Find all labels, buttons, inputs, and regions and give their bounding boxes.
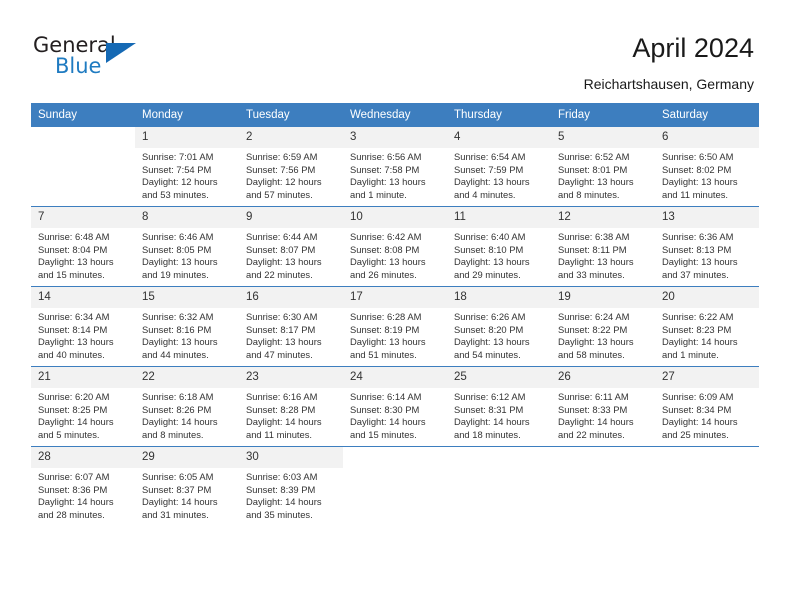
day-number: 7 (31, 207, 135, 228)
day-number: 30 (239, 447, 343, 468)
daylight-text-line1: Daylight: 12 hours (142, 176, 233, 189)
sunset-text: Sunset: 8:01 PM (558, 164, 649, 177)
daylight-text-line2: and 15 minutes. (38, 269, 129, 282)
weekday-header-wednesday: Wednesday (343, 103, 447, 127)
day-cell[interactable]: 29 Sunrise: 6:05 AM Sunset: 8:37 PM Dayl… (135, 447, 239, 527)
day-details: Sunrise: 6:52 AM Sunset: 8:01 PM Dayligh… (551, 148, 655, 201)
day-details: Sunrise: 6:05 AM Sunset: 8:37 PM Dayligh… (135, 468, 239, 521)
day-number (447, 447, 551, 468)
day-details: Sunrise: 7:01 AM Sunset: 7:54 PM Dayligh… (135, 148, 239, 201)
day-details: Sunrise: 6:09 AM Sunset: 8:34 PM Dayligh… (655, 388, 759, 441)
day-number: 12 (551, 207, 655, 228)
calendar-page: General Blue April 2024 Reichartshausen,… (0, 0, 792, 612)
day-cell[interactable]: 18 Sunrise: 6:26 AM Sunset: 8:20 PM Dayl… (447, 287, 551, 367)
daylight-text-line2: and 11 minutes. (246, 429, 337, 442)
day-cell[interactable]: 9 Sunrise: 6:44 AM Sunset: 8:07 PM Dayli… (239, 207, 343, 287)
sunrise-text: Sunrise: 6:16 AM (246, 391, 337, 404)
day-number: 1 (135, 127, 239, 148)
day-number: 28 (31, 447, 135, 468)
day-details: Sunrise: 6:07 AM Sunset: 8:36 PM Dayligh… (31, 468, 135, 521)
weekday-header-row: Sunday Monday Tuesday Wednesday Thursday… (31, 103, 759, 127)
daylight-text-line2: and 35 minutes. (246, 509, 337, 522)
day-cell[interactable]: 15 Sunrise: 6:32 AM Sunset: 8:16 PM Dayl… (135, 287, 239, 367)
day-cell[interactable]: 7 Sunrise: 6:48 AM Sunset: 8:04 PM Dayli… (31, 207, 135, 287)
daylight-text-line2: and 33 minutes. (558, 269, 649, 282)
sunset-text: Sunset: 8:28 PM (246, 404, 337, 417)
calendar-week-row: 14 Sunrise: 6:34 AM Sunset: 8:14 PM Dayl… (31, 287, 759, 367)
daylight-text-line2: and 1 minute. (350, 189, 441, 202)
sunset-text: Sunset: 7:59 PM (454, 164, 545, 177)
sunset-text: Sunset: 8:33 PM (558, 404, 649, 417)
daylight-text-line2: and 22 minutes. (246, 269, 337, 282)
sunrise-text: Sunrise: 6:24 AM (558, 311, 649, 324)
calendar-week-row: 1 Sunrise: 7:01 AM Sunset: 7:54 PM Dayli… (31, 127, 759, 207)
day-details: Sunrise: 6:48 AM Sunset: 8:04 PM Dayligh… (31, 228, 135, 281)
sunset-text: Sunset: 8:34 PM (662, 404, 753, 417)
daylight-text-line2: and 18 minutes. (454, 429, 545, 442)
daylight-text-line1: Daylight: 14 hours (662, 336, 753, 349)
calendar-week-row: 28 Sunrise: 6:07 AM Sunset: 8:36 PM Dayl… (31, 447, 759, 527)
sunset-text: Sunset: 7:56 PM (246, 164, 337, 177)
sunrise-text: Sunrise: 6:22 AM (662, 311, 753, 324)
sunset-text: Sunset: 8:22 PM (558, 324, 649, 337)
sunset-text: Sunset: 8:39 PM (246, 484, 337, 497)
day-number: 13 (655, 207, 759, 228)
sunset-text: Sunset: 8:36 PM (38, 484, 129, 497)
day-cell[interactable]: 14 Sunrise: 6:34 AM Sunset: 8:14 PM Dayl… (31, 287, 135, 367)
day-details: Sunrise: 6:20 AM Sunset: 8:25 PM Dayligh… (31, 388, 135, 441)
day-cell[interactable]: 21 Sunrise: 6:20 AM Sunset: 8:25 PM Dayl… (31, 367, 135, 447)
daylight-text-line2: and 22 minutes. (558, 429, 649, 442)
daylight-text-line1: Daylight: 13 hours (558, 336, 649, 349)
day-cell[interactable]: 13 Sunrise: 6:36 AM Sunset: 8:13 PM Dayl… (655, 207, 759, 287)
day-number: 6 (655, 127, 759, 148)
daylight-text-line1: Daylight: 13 hours (558, 256, 649, 269)
sunrise-text: Sunrise: 6:26 AM (454, 311, 545, 324)
daylight-text-line2: and 11 minutes. (662, 189, 753, 202)
sunrise-text: Sunrise: 6:56 AM (350, 151, 441, 164)
day-details: Sunrise: 6:14 AM Sunset: 8:30 PM Dayligh… (343, 388, 447, 441)
sunset-text: Sunset: 8:04 PM (38, 244, 129, 257)
day-cell[interactable]: 10 Sunrise: 6:42 AM Sunset: 8:08 PM Dayl… (343, 207, 447, 287)
day-number: 2 (239, 127, 343, 148)
sunrise-text: Sunrise: 6:09 AM (662, 391, 753, 404)
daylight-text-line1: Daylight: 14 hours (142, 496, 233, 509)
day-number: 18 (447, 287, 551, 308)
daylight-text-line2: and 54 minutes. (454, 349, 545, 362)
sunset-text: Sunset: 8:23 PM (662, 324, 753, 337)
day-cell[interactable]: 20 Sunrise: 6:22 AM Sunset: 8:23 PM Dayl… (655, 287, 759, 367)
day-number: 24 (343, 367, 447, 388)
day-number (31, 127, 135, 148)
day-cell[interactable]: 16 Sunrise: 6:30 AM Sunset: 8:17 PM Dayl… (239, 287, 343, 367)
daylight-text-line2: and 15 minutes. (350, 429, 441, 442)
day-number: 22 (135, 367, 239, 388)
day-cell-empty (655, 447, 759, 527)
day-cell[interactable]: 12 Sunrise: 6:38 AM Sunset: 8:11 PM Dayl… (551, 207, 655, 287)
logo-triangle-icon (106, 43, 136, 63)
sunrise-text: Sunrise: 6:36 AM (662, 231, 753, 244)
sunset-text: Sunset: 7:58 PM (350, 164, 441, 177)
weekday-header-tuesday: Tuesday (239, 103, 343, 127)
weekday-header-sunday: Sunday (31, 103, 135, 127)
daylight-text-line2: and 51 minutes. (350, 349, 441, 362)
daylight-text-line1: Daylight: 12 hours (246, 176, 337, 189)
logo-text-general: General (33, 34, 116, 56)
sunrise-text: Sunrise: 6:59 AM (246, 151, 337, 164)
day-details: Sunrise: 6:11 AM Sunset: 8:33 PM Dayligh… (551, 388, 655, 441)
day-number: 3 (343, 127, 447, 148)
daylight-text-line1: Daylight: 14 hours (246, 416, 337, 429)
daylight-text-line1: Daylight: 14 hours (38, 416, 129, 429)
day-details: Sunrise: 6:42 AM Sunset: 8:08 PM Dayligh… (343, 228, 447, 281)
sunset-text: Sunset: 8:10 PM (454, 244, 545, 257)
day-number: 27 (655, 367, 759, 388)
daylight-text-line2: and 28 minutes. (38, 509, 129, 522)
day-number: 29 (135, 447, 239, 468)
sunset-text: Sunset: 8:16 PM (142, 324, 233, 337)
sunset-text: Sunset: 8:07 PM (246, 244, 337, 257)
daylight-text-line1: Daylight: 14 hours (454, 416, 545, 429)
sunset-text: Sunset: 8:26 PM (142, 404, 233, 417)
day-cell[interactable]: 19 Sunrise: 6:24 AM Sunset: 8:22 PM Dayl… (551, 287, 655, 367)
daylight-text-line2: and 4 minutes. (454, 189, 545, 202)
daylight-text-line1: Daylight: 13 hours (350, 176, 441, 189)
general-blue-logo[interactable]: General Blue (33, 34, 143, 84)
day-details: Sunrise: 6:24 AM Sunset: 8:22 PM Dayligh… (551, 308, 655, 361)
day-number (655, 447, 759, 468)
sunrise-text: Sunrise: 6:40 AM (454, 231, 545, 244)
daylight-text-line1: Daylight: 14 hours (142, 416, 233, 429)
sunset-text: Sunset: 8:37 PM (142, 484, 233, 497)
daylight-text-line2: and 1 minute. (662, 349, 753, 362)
day-number: 10 (343, 207, 447, 228)
sunrise-text: Sunrise: 6:32 AM (142, 311, 233, 324)
sunrise-text: Sunrise: 6:14 AM (350, 391, 441, 404)
day-cell[interactable]: 23 Sunrise: 6:16 AM Sunset: 8:28 PM Dayl… (239, 367, 343, 447)
day-details: Sunrise: 6:28 AM Sunset: 8:19 PM Dayligh… (343, 308, 447, 361)
daylight-text-line2: and 25 minutes. (662, 429, 753, 442)
sunrise-text: Sunrise: 6:11 AM (558, 391, 649, 404)
daylight-text-line1: Daylight: 14 hours (350, 416, 441, 429)
day-cell[interactable]: 8 Sunrise: 6:46 AM Sunset: 8:05 PM Dayli… (135, 207, 239, 287)
daylight-text-line2: and 19 minutes. (142, 269, 233, 282)
sunrise-text: Sunrise: 6:46 AM (142, 231, 233, 244)
sunset-text: Sunset: 8:05 PM (142, 244, 233, 257)
daylight-text-line1: Daylight: 13 hours (558, 176, 649, 189)
day-cell-empty (31, 127, 135, 207)
sunrise-text: Sunrise: 6:20 AM (38, 391, 129, 404)
sunset-text: Sunset: 8:11 PM (558, 244, 649, 257)
weekday-header-friday: Friday (551, 103, 655, 127)
sunrise-text: Sunrise: 6:44 AM (246, 231, 337, 244)
day-cell[interactable]: 5 Sunrise: 6:52 AM Sunset: 8:01 PM Dayli… (551, 127, 655, 207)
day-number: 17 (343, 287, 447, 308)
sunset-text: Sunset: 8:17 PM (246, 324, 337, 337)
day-details: Sunrise: 6:12 AM Sunset: 8:31 PM Dayligh… (447, 388, 551, 441)
logo-text-blue: Blue (55, 55, 101, 77)
daylight-text-line1: Daylight: 13 hours (454, 176, 545, 189)
page-title: April 2024 (632, 33, 754, 63)
day-cell[interactable]: 4 Sunrise: 6:54 AM Sunset: 7:59 PM Dayli… (447, 127, 551, 207)
day-details: Sunrise: 6:34 AM Sunset: 8:14 PM Dayligh… (31, 308, 135, 361)
sunrise-text: Sunrise: 6:07 AM (38, 471, 129, 484)
daylight-text-line2: and 8 minutes. (558, 189, 649, 202)
sunset-text: Sunset: 8:02 PM (662, 164, 753, 177)
day-cell[interactable]: 30 Sunrise: 6:03 AM Sunset: 8:39 PM Dayl… (239, 447, 343, 527)
sunset-text: Sunset: 7:54 PM (142, 164, 233, 177)
day-details: Sunrise: 6:32 AM Sunset: 8:16 PM Dayligh… (135, 308, 239, 361)
day-cell[interactable]: 26 Sunrise: 6:11 AM Sunset: 8:33 PM Dayl… (551, 367, 655, 447)
daylight-text-line2: and 8 minutes. (142, 429, 233, 442)
sunrise-text: Sunrise: 6:50 AM (662, 151, 753, 164)
day-number: 5 (551, 127, 655, 148)
sunset-text: Sunset: 8:13 PM (662, 244, 753, 257)
day-number: 9 (239, 207, 343, 228)
daylight-text-line1: Daylight: 13 hours (38, 336, 129, 349)
calendar-week-row: 7 Sunrise: 6:48 AM Sunset: 8:04 PM Dayli… (31, 207, 759, 287)
daylight-text-line2: and 40 minutes. (38, 349, 129, 362)
sunrise-text: Sunrise: 6:03 AM (246, 471, 337, 484)
day-details: Sunrise: 6:50 AM Sunset: 8:02 PM Dayligh… (655, 148, 759, 201)
daylight-text-line1: Daylight: 13 hours (454, 336, 545, 349)
sunrise-text: Sunrise: 6:12 AM (454, 391, 545, 404)
sunset-text: Sunset: 8:08 PM (350, 244, 441, 257)
day-cell[interactable]: 24 Sunrise: 6:14 AM Sunset: 8:30 PM Dayl… (343, 367, 447, 447)
sunrise-text: Sunrise: 6:05 AM (142, 471, 233, 484)
day-number: 19 (551, 287, 655, 308)
sunrise-text: Sunrise: 6:48 AM (38, 231, 129, 244)
day-cell[interactable]: 17 Sunrise: 6:28 AM Sunset: 8:19 PM Dayl… (343, 287, 447, 367)
day-number: 8 (135, 207, 239, 228)
daylight-text-line2: and 26 minutes. (350, 269, 441, 282)
day-number: 11 (447, 207, 551, 228)
day-number: 23 (239, 367, 343, 388)
day-details: Sunrise: 6:36 AM Sunset: 8:13 PM Dayligh… (655, 228, 759, 281)
daylight-text-line1: Daylight: 13 hours (662, 256, 753, 269)
weekday-header-saturday: Saturday (655, 103, 759, 127)
daylight-text-line2: and 37 minutes. (662, 269, 753, 282)
daylight-text-line1: Daylight: 13 hours (662, 176, 753, 189)
day-details: Sunrise: 6:30 AM Sunset: 8:17 PM Dayligh… (239, 308, 343, 361)
day-cell-empty (343, 447, 447, 527)
page-subtitle-location: Reichartshausen, Germany (584, 76, 754, 92)
day-cell[interactable]: 2 Sunrise: 6:59 AM Sunset: 7:56 PM Dayli… (239, 127, 343, 207)
day-cell-empty (447, 447, 551, 527)
daylight-text-line1: Daylight: 13 hours (454, 256, 545, 269)
page-header: General Blue April 2024 Reichartshausen,… (0, 0, 792, 103)
daylight-text-line2: and 53 minutes. (142, 189, 233, 202)
day-number (551, 447, 655, 468)
day-cell[interactable]: 28 Sunrise: 6:07 AM Sunset: 8:36 PM Dayl… (31, 447, 135, 527)
daylight-text-line2: and 44 minutes. (142, 349, 233, 362)
weekday-header-monday: Monday (135, 103, 239, 127)
sunrise-text: Sunrise: 6:28 AM (350, 311, 441, 324)
daylight-text-line2: and 31 minutes. (142, 509, 233, 522)
daylight-text-line1: Daylight: 13 hours (142, 336, 233, 349)
sunrise-text: Sunrise: 6:52 AM (558, 151, 649, 164)
day-details: Sunrise: 6:54 AM Sunset: 7:59 PM Dayligh… (447, 148, 551, 201)
calendar-week-row: 21 Sunrise: 6:20 AM Sunset: 8:25 PM Dayl… (31, 367, 759, 447)
daylight-text-line2: and 58 minutes. (558, 349, 649, 362)
calendar-body: 1 Sunrise: 7:01 AM Sunset: 7:54 PM Dayli… (31, 127, 759, 527)
sunset-text: Sunset: 8:14 PM (38, 324, 129, 337)
sunset-text: Sunset: 8:30 PM (350, 404, 441, 417)
daylight-text-line1: Daylight: 13 hours (246, 256, 337, 269)
day-cell-empty (551, 447, 655, 527)
day-details: Sunrise: 6:03 AM Sunset: 8:39 PM Dayligh… (239, 468, 343, 521)
day-cell[interactable]: 27 Sunrise: 6:09 AM Sunset: 8:34 PM Dayl… (655, 367, 759, 447)
daylight-text-line2: and 47 minutes. (246, 349, 337, 362)
daylight-text-line1: Daylight: 13 hours (38, 256, 129, 269)
daylight-text-line1: Daylight: 14 hours (662, 416, 753, 429)
sunrise-text: Sunrise: 6:18 AM (142, 391, 233, 404)
day-details: Sunrise: 6:22 AM Sunset: 8:23 PM Dayligh… (655, 308, 759, 361)
day-number: 16 (239, 287, 343, 308)
day-number: 15 (135, 287, 239, 308)
day-number: 25 (447, 367, 551, 388)
sunrise-text: Sunrise: 6:34 AM (38, 311, 129, 324)
day-number: 4 (447, 127, 551, 148)
day-details: Sunrise: 6:44 AM Sunset: 8:07 PM Dayligh… (239, 228, 343, 281)
day-details: Sunrise: 6:38 AM Sunset: 8:11 PM Dayligh… (551, 228, 655, 281)
daylight-text-line1: Daylight: 14 hours (246, 496, 337, 509)
day-cell[interactable]: 25 Sunrise: 6:12 AM Sunset: 8:31 PM Dayl… (447, 367, 551, 447)
daylight-text-line2: and 5 minutes. (38, 429, 129, 442)
day-number: 21 (31, 367, 135, 388)
daylight-text-line1: Daylight: 14 hours (558, 416, 649, 429)
day-details: Sunrise: 6:40 AM Sunset: 8:10 PM Dayligh… (447, 228, 551, 281)
daylight-text-line2: and 29 minutes. (454, 269, 545, 282)
day-number (343, 447, 447, 468)
day-number: 20 (655, 287, 759, 308)
sunrise-text: Sunrise: 6:38 AM (558, 231, 649, 244)
day-cell[interactable]: 3 Sunrise: 6:56 AM Sunset: 7:58 PM Dayli… (343, 127, 447, 207)
sunrise-text: Sunrise: 6:42 AM (350, 231, 441, 244)
day-details: Sunrise: 6:18 AM Sunset: 8:26 PM Dayligh… (135, 388, 239, 441)
day-details: Sunrise: 6:59 AM Sunset: 7:56 PM Dayligh… (239, 148, 343, 201)
day-cell[interactable]: 6 Sunrise: 6:50 AM Sunset: 8:02 PM Dayli… (655, 127, 759, 207)
sunrise-text: Sunrise: 6:54 AM (454, 151, 545, 164)
daylight-text-line2: and 57 minutes. (246, 189, 337, 202)
day-details: Sunrise: 6:46 AM Sunset: 8:05 PM Dayligh… (135, 228, 239, 281)
sunrise-text: Sunrise: 7:01 AM (142, 151, 233, 164)
day-details: Sunrise: 6:56 AM Sunset: 7:58 PM Dayligh… (343, 148, 447, 201)
daylight-text-line1: Daylight: 13 hours (350, 336, 441, 349)
daylight-text-line1: Daylight: 13 hours (350, 256, 441, 269)
sunset-text: Sunset: 8:31 PM (454, 404, 545, 417)
day-cell[interactable]: 22 Sunrise: 6:18 AM Sunset: 8:26 PM Dayl… (135, 367, 239, 447)
weekday-header-thursday: Thursday (447, 103, 551, 127)
day-number: 26 (551, 367, 655, 388)
day-cell[interactable]: 1 Sunrise: 7:01 AM Sunset: 7:54 PM Dayli… (135, 127, 239, 207)
daylight-text-line1: Daylight: 14 hours (38, 496, 129, 509)
sunrise-sunset-calendar: Sunday Monday Tuesday Wednesday Thursday… (31, 103, 759, 526)
daylight-text-line1: Daylight: 13 hours (246, 336, 337, 349)
sunrise-text: Sunrise: 6:30 AM (246, 311, 337, 324)
day-details: Sunrise: 6:26 AM Sunset: 8:20 PM Dayligh… (447, 308, 551, 361)
sunset-text: Sunset: 8:20 PM (454, 324, 545, 337)
sunset-text: Sunset: 8:19 PM (350, 324, 441, 337)
daylight-text-line1: Daylight: 13 hours (142, 256, 233, 269)
sunset-text: Sunset: 8:25 PM (38, 404, 129, 417)
day-details: Sunrise: 6:16 AM Sunset: 8:28 PM Dayligh… (239, 388, 343, 441)
day-number: 14 (31, 287, 135, 308)
day-cell[interactable]: 11 Sunrise: 6:40 AM Sunset: 8:10 PM Dayl… (447, 207, 551, 287)
